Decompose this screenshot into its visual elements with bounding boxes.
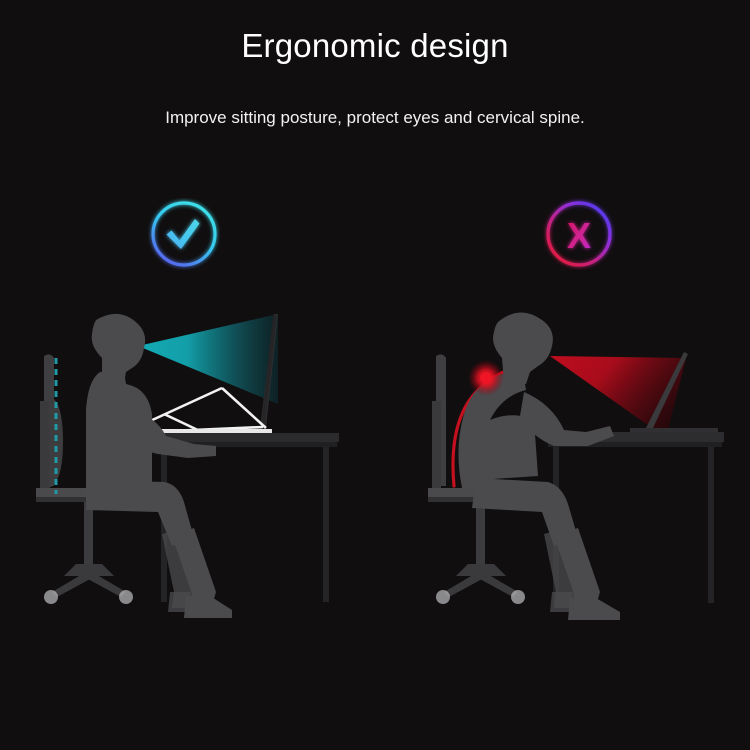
chair-wheel-right-bad	[511, 590, 525, 604]
cross-badge-svg: X	[543, 198, 615, 270]
neck-pain-core-bad	[480, 372, 492, 384]
product-feature-banner: Ergonomic design Improve sitting posture…	[0, 0, 750, 750]
desk-leg-right-good	[323, 447, 329, 602]
scene-bad-posture	[398, 296, 738, 636]
check-badge-svg	[148, 198, 220, 270]
page-subtitle: Improve sitting posture, protect eyes an…	[0, 106, 750, 130]
chair-lumbar-good	[49, 396, 63, 488]
page-title: Ergonomic design	[0, 26, 750, 66]
verdict-badge-cross: X	[543, 198, 615, 270]
chair-back-pad-bad	[432, 401, 441, 489]
chair-base-hub-bad	[456, 564, 506, 576]
scene-good-posture	[26, 296, 366, 636]
chair-cylinder-bad	[476, 502, 485, 564]
check-mark-icon	[167, 219, 200, 249]
chair-wheel-right-good	[119, 590, 133, 604]
cross-x-icon: X	[567, 215, 591, 256]
chair-wheel-left-good	[44, 590, 58, 604]
chair-base-hub-good	[64, 564, 114, 576]
check-badge-ring	[153, 203, 215, 265]
gaze-cone-good	[138, 314, 278, 404]
chair-wheel-left-bad	[436, 590, 450, 604]
chair-cylinder-good	[84, 502, 93, 564]
verdict-badge-check	[148, 198, 220, 270]
desk-leg-right-bad	[708, 447, 714, 603]
chair-back-pad-good	[40, 401, 49, 489]
